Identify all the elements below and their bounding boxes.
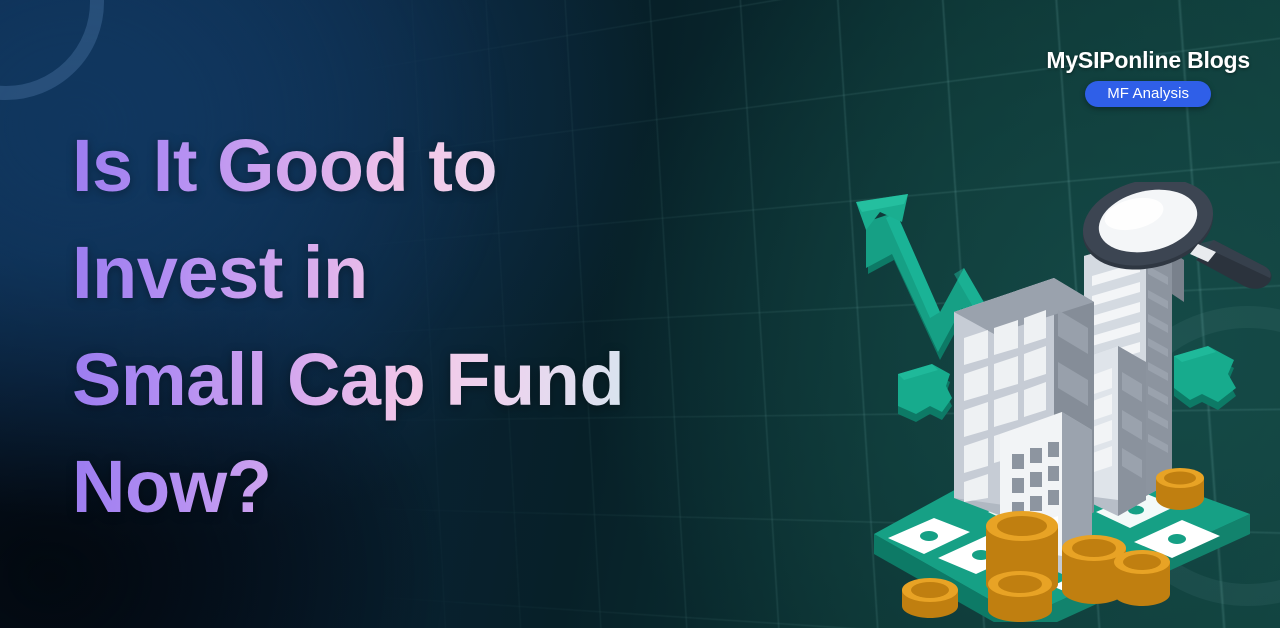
page-title: Is It Good to Invest in Small Cap Fund N… (72, 112, 862, 540)
decorative-ring-top-left (0, 0, 104, 100)
headline-line-3: Small Cap Fund (72, 326, 862, 433)
brand-block: MySIPonline Blogs MF Analysis (1046, 48, 1250, 107)
headline-line-4: Now? (72, 433, 862, 540)
headline-line-2: Invest in (72, 219, 862, 326)
isometric-investment-illustration (846, 182, 1276, 622)
headline-line-1: Is It Good to (72, 112, 862, 219)
puzzle-piece-right-icon (1174, 346, 1236, 410)
brand-title: MySIPonline Blogs (1046, 48, 1250, 73)
category-badge[interactable]: MF Analysis (1085, 81, 1211, 107)
blog-banner: MySIPonline Blogs MF Analysis Is It Good… (0, 0, 1280, 628)
puzzle-piece-left-icon (898, 364, 952, 422)
